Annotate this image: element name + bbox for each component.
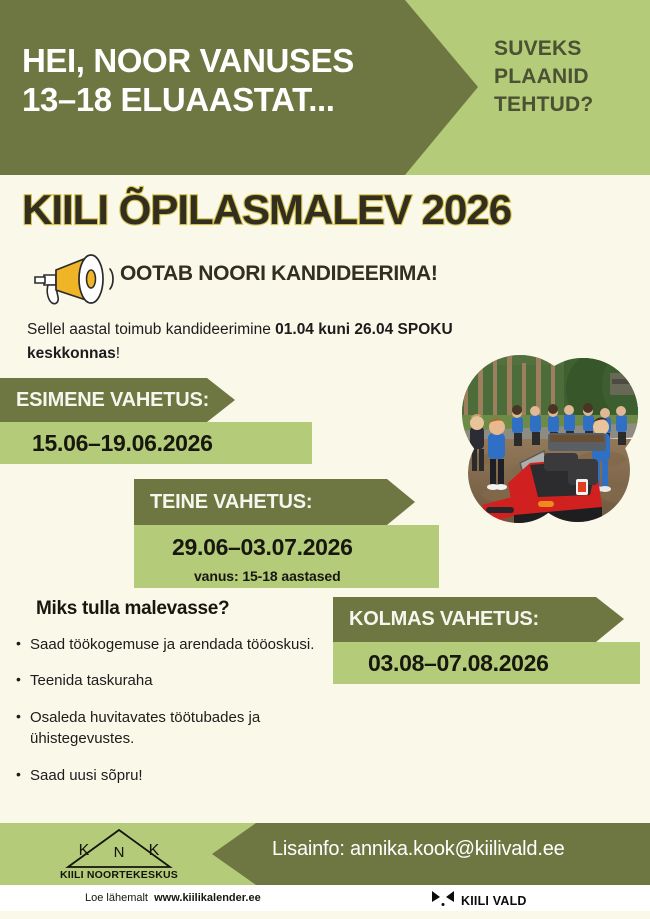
shift-2-age-note: vanus: 15-18 aastased (194, 568, 439, 584)
shift-3-label-text: KOLMAS VAHETUS: (349, 608, 539, 631)
bottom-read-more-label: Loe lähemalt (85, 892, 148, 904)
list-item: Teenida taskuraha (14, 670, 324, 691)
kiili-noortekeskus-logo: K N K KIILI NOORTEKESKUS (58, 827, 180, 881)
header-title: HEI, NOOR VANUSES 13–18 ELUAASTAT... (22, 42, 422, 120)
shift-3-label: KOLMAS VAHETUS: (333, 597, 624, 642)
intro-text-post: ! (116, 345, 120, 362)
why-section-title: Miks tulla malevasse? (36, 598, 229, 620)
kiili-vald-name: KIILI VALD (461, 894, 527, 908)
bottom-read-more: Loe lähemalt www.kiilikalender.ee (85, 892, 261, 904)
kiili-vald-logo: KIILI VALD (432, 890, 527, 911)
page-subtitle: OOTAB NOORI KANDIDEERIMA! (120, 262, 438, 286)
page-title: KIILI ÕPILASMALEV 2026 (22, 186, 511, 234)
header-banner: HEI, NOOR VANUSES 13–18 ELUAASTAT... SUV… (0, 0, 650, 175)
intro-paragraph: Sellel aastal toimub kandideerimine 01.0… (27, 318, 457, 365)
poster-root: HEI, NOOR VANUSES 13–18 ELUAASTAT... SUV… (0, 0, 650, 919)
list-item: Osaleda huvitavates töötubades ja ühiste… (14, 707, 324, 750)
header-title-line1: HEI, NOOR VANUSES (22, 42, 354, 79)
kiili-vald-mark-icon (432, 890, 454, 911)
header-subtitle-line2: PLAANID (494, 63, 644, 91)
why-benefits-list: Saad töökogemuse ja arendada tööoskusi. … (14, 634, 324, 801)
header-subtitle-line1: SUVEKS (494, 35, 644, 63)
header-subtitle-line3: TEHTUD? (494, 91, 644, 119)
list-item: Saad uusi sõpru! (14, 765, 324, 786)
camp-photo (452, 355, 644, 523)
header-subtitle: SUVEKS PLAANID TEHTUD? (494, 35, 644, 119)
list-item: Saad töökogemuse ja arendada tööoskusi. (14, 634, 324, 655)
shift-1-dates-text: 15.06–19.06.2026 (32, 430, 312, 457)
svg-text:K: K (79, 842, 90, 859)
shift-1-label-text: ESIMENE VAHETUS: (16, 389, 209, 412)
svg-text:N: N (114, 844, 125, 861)
shift-1-label: ESIMENE VAHETUS: (0, 378, 235, 422)
shift-1-dates: 15.06–19.06.2026 (0, 422, 312, 464)
shift-2-label: TEINE VAHETUS: (134, 479, 415, 525)
intro-dates-bold: 01.04 kuni 26.04 (275, 321, 393, 338)
bottom-website-url[interactable]: www.kiilikalender.ee (154, 892, 261, 904)
shift-3-dates-text: 03.08–07.08.2026 (368, 650, 640, 677)
intro-text-pre: Sellel aastal toimub kandideerimine (27, 321, 275, 338)
bottom-edge-strip (0, 911, 650, 919)
megaphone-icon (26, 250, 118, 308)
header-title-line2: 13–18 ELUAASTAT... (22, 81, 422, 120)
contact-email[interactable]: Lisainfo: annika.kook@kiilivald.ee (272, 838, 565, 861)
shift-2-label-text: TEINE VAHETUS: (150, 491, 312, 514)
shift-3-dates: 03.08–07.08.2026 (333, 642, 640, 684)
shift-2-dates-text: 29.06–03.07.2026 (172, 534, 439, 561)
svg-text:K: K (149, 842, 160, 859)
svg-text:KIILI NOORTEKESKUS: KIILI NOORTEKESKUS (60, 869, 178, 881)
shift-2-dates: 29.06–03.07.2026 vanus: 15-18 aastased (134, 525, 439, 588)
